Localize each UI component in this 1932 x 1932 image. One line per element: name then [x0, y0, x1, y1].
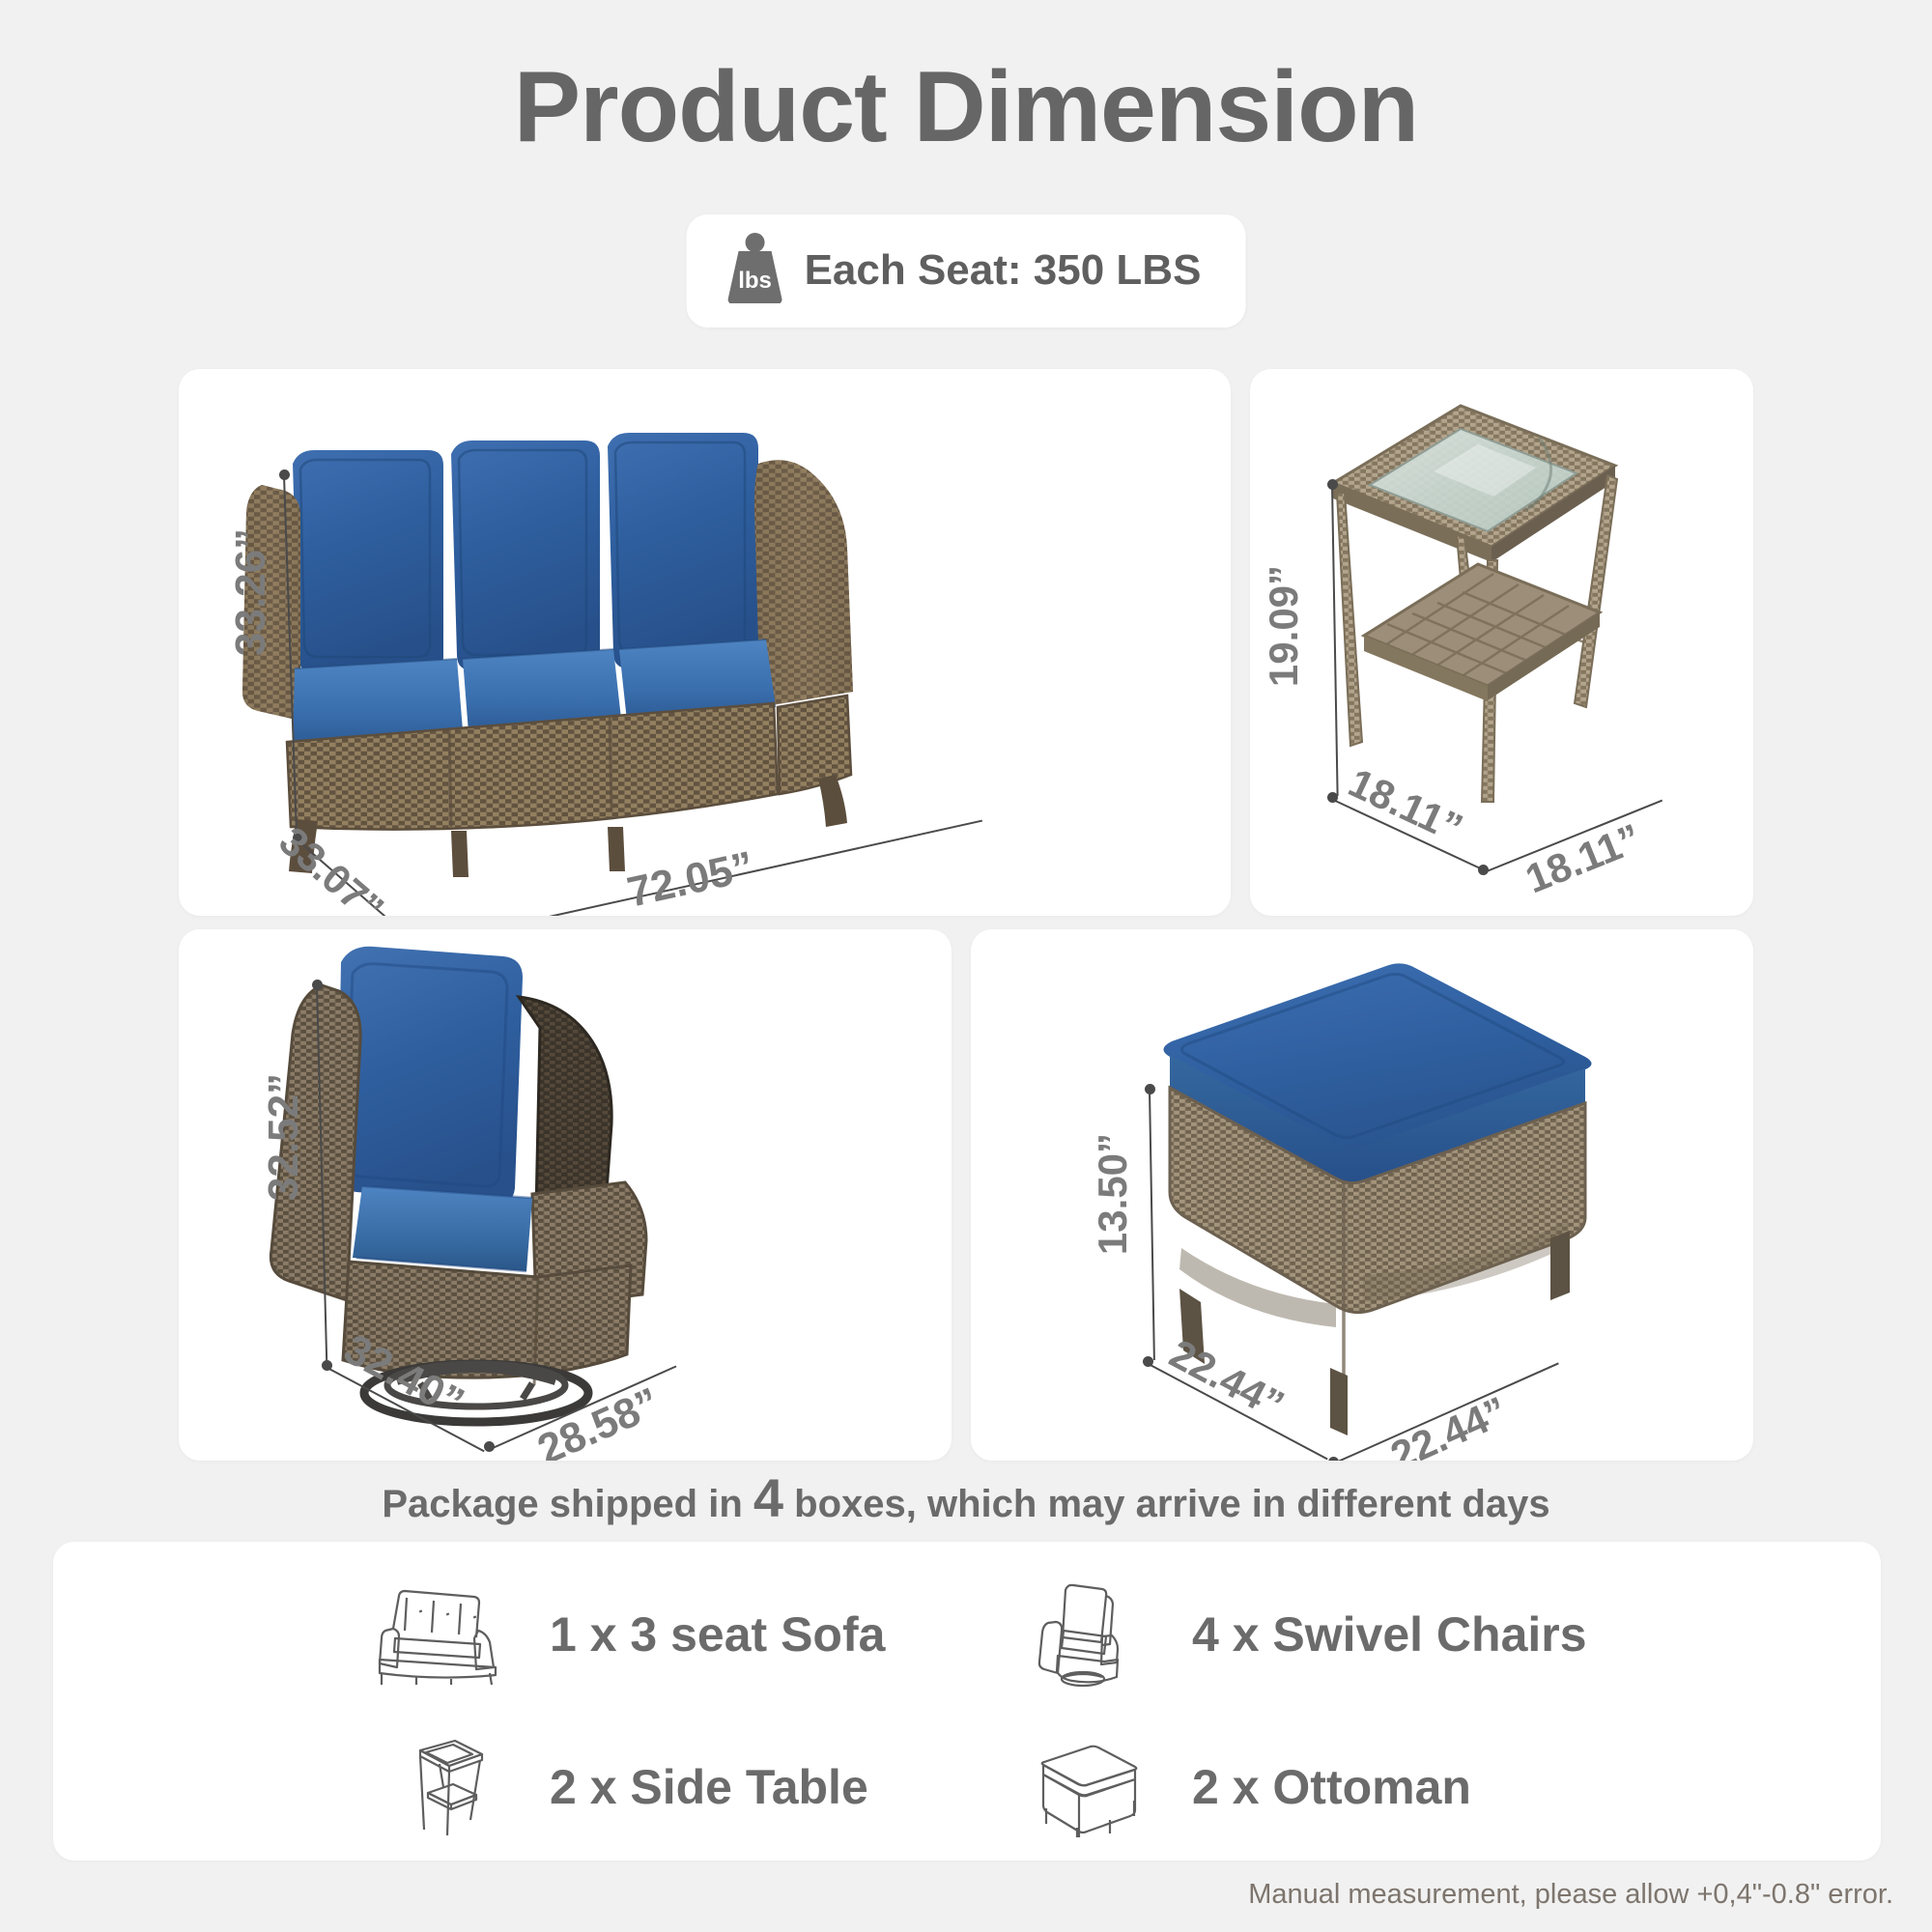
list-item-label: 4 x Swivel Chairs	[1192, 1606, 1587, 1662]
product-card-swivel-chair: 32.52” 32.40” 28.58”	[179, 929, 952, 1461]
weight-capacity-badge: lbs Each Seat: 350 LBS	[687, 214, 1246, 327]
sofa-height-label: 33.26”	[227, 520, 275, 665]
ottoman-illustration: 13.50” 22.44” 22.44”	[971, 929, 1753, 1461]
weight-lbs-icon: lbs	[725, 232, 785, 308]
list-item-label: 1 x 3 seat Sofa	[550, 1606, 885, 1662]
side-table-icon	[372, 1733, 517, 1841]
ottoman-height-label: 13.50”	[1090, 1112, 1136, 1276]
chair-height-label: 32.52”	[260, 1055, 308, 1219]
side-table-height-label: 19.09”	[1261, 544, 1307, 708]
shipping-note-prefix: Package shipped in	[382, 1483, 753, 1525]
ottoman-icon	[1014, 1733, 1159, 1841]
list-item-label: 2 x Ottoman	[1192, 1759, 1471, 1815]
sofa-illustration: 33.26” 33.07” 72.05”	[179, 369, 1231, 916]
list-item-label: 2 x Side Table	[550, 1759, 868, 1815]
list-item: 2 x Ottoman	[1014, 1733, 1628, 1841]
sofa-drawing	[179, 369, 1231, 916]
product-card-side-table: 19.09” 18.11” 18.11”	[1250, 369, 1753, 916]
weight-capacity-label: Each Seat: 350 LBS	[805, 246, 1202, 295]
ottoman-drawing	[971, 929, 1753, 1461]
product-dimension-infographic: Product Dimension lbs Each Seat: 350 LBS	[0, 0, 1932, 1932]
measurement-disclaimer: Manual measurement, please allow +0,4"-0…	[1248, 1879, 1893, 1911]
svg-text:lbs: lbs	[738, 268, 772, 294]
shipping-note-suffix: boxes, which may arrive in different day…	[783, 1483, 1550, 1525]
side-table-drawing	[1250, 369, 1753, 916]
side-table-illustration: 19.09” 18.11” 18.11”	[1250, 369, 1753, 916]
list-item: 4 x Swivel Chairs	[1014, 1580, 1628, 1689]
product-card-sofa: 33.26” 33.07” 72.05”	[179, 369, 1231, 916]
product-card-ottoman: 13.50” 22.44” 22.44”	[971, 929, 1753, 1461]
list-item: 2 x Side Table	[372, 1733, 985, 1841]
list-item: 1 x 3 seat Sofa	[372, 1580, 985, 1689]
swivel-chair-illustration: 32.52” 32.40” 28.58”	[179, 929, 952, 1461]
package-contents-card: 1 x 3 seat Sofa 4 x Swivel Chairs	[53, 1542, 1881, 1861]
swivel-chair-icon	[1014, 1580, 1159, 1689]
shipping-box-count: 4	[753, 1467, 783, 1528]
sofa-icon	[372, 1580, 517, 1689]
package-contents-list: 1 x 3 seat Sofa 4 x Swivel Chairs	[372, 1580, 1628, 1841]
page-title: Product Dimension	[0, 50, 1932, 165]
shipping-note: Package shipped in 4 boxes, which may ar…	[0, 1466, 1932, 1529]
